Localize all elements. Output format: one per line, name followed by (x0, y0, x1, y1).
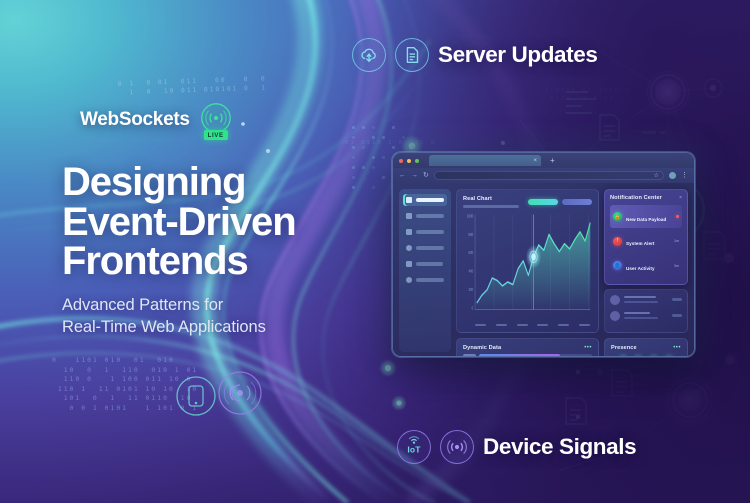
topic-server-updates-label: Server Updates (438, 42, 597, 68)
chart-card-title: Real Chart (463, 196, 519, 202)
svg-text:IoT: IoT (407, 445, 421, 455)
x-tick (496, 324, 507, 326)
sidebar-item-circle[interactable] (403, 242, 447, 254)
broadcast-signal-icon (440, 430, 474, 464)
svg-text:0: 0 (472, 306, 474, 311)
progress-track (479, 354, 592, 357)
document-icon (395, 38, 429, 72)
realtime-area-chart: 1000 800 600 400 200 0 (463, 212, 592, 326)
live-pill-label: LIVE (204, 130, 228, 140)
page-subtitle: Advanced Patterns for Real-Time Web Appl… (62, 295, 296, 339)
websockets-text: WebSockets (80, 109, 190, 131)
avatar (610, 311, 620, 321)
svg-text:200: 200 (468, 288, 473, 293)
chart-live-toggle[interactable] (528, 199, 558, 205)
sidebar-item-square[interactable] (403, 226, 447, 238)
notification-time: 1m (674, 239, 679, 243)
card-menu-icon[interactable]: ••• (584, 345, 592, 351)
lock-icon: 🔒 (613, 212, 622, 221)
topic-device-signals-label: Device Signals (483, 434, 636, 460)
close-icon[interactable]: × (679, 196, 682, 201)
notification-center-title: Notification Center (610, 195, 662, 201)
presence-grid (611, 356, 681, 358)
binary-texture-top: 0 1 0 01 011 00 0 0 1 0 10 011 010101 0 … (118, 75, 267, 98)
close-icon[interactable]: × (533, 158, 537, 164)
dashboard-sidebar (399, 189, 451, 352)
notification-time: 3m (674, 264, 679, 268)
square-icon (406, 229, 412, 235)
title-line-3: Frontends (62, 242, 296, 282)
avatar (610, 295, 620, 305)
browser-tab[interactable]: × (429, 155, 541, 166)
notification-title: New Data Payload (626, 217, 666, 222)
websockets-live-badge: LIVE (199, 103, 233, 137)
x-tick (558, 324, 569, 326)
user-icon: 👤 (613, 261, 622, 270)
row-label (463, 354, 476, 357)
chart-card-header: Real Chart (463, 196, 592, 208)
reload-icon[interactable]: ↻ (423, 172, 429, 179)
address-bar[interactable]: ☆ (434, 171, 664, 180)
presence-dot[interactable] (620, 356, 626, 358)
browser-tab-bar: × + (393, 153, 694, 168)
notification-title: System Alert (626, 241, 655, 246)
sidebar-item-label (416, 230, 444, 234)
list-item[interactable] (610, 311, 682, 321)
feed-line-secondary (624, 317, 658, 319)
dashboard-main: Real Chart (456, 189, 688, 352)
x-tick (579, 324, 590, 326)
binary-texture-right: 1 0011 01 0110 1 0101 1 0 10 (545, 88, 631, 104)
chart-x-ticks (475, 324, 590, 326)
svg-text:600: 600 (468, 251, 473, 256)
sidebar-item-label (416, 214, 444, 218)
x-tick (475, 324, 486, 326)
list-item[interactable] (610, 295, 682, 305)
websockets-label: WebSockets LIVE (80, 103, 233, 137)
status-badge (676, 215, 679, 218)
feed-tag (672, 298, 682, 301)
page-title: Designing Event-Driven Frontends (62, 163, 296, 282)
chart-icon (406, 261, 412, 267)
alert-icon: ! (613, 237, 622, 246)
user-icon (406, 277, 412, 283)
feed-line-primary (624, 296, 656, 299)
dynamic-data-card: Dynamic Data ••• (456, 338, 599, 358)
sidebar-item-label (416, 246, 444, 250)
activity-feed-panel (604, 289, 688, 333)
forward-icon[interactable]: → (411, 172, 418, 179)
presence-dot[interactable] (666, 356, 672, 358)
notification-title: User Activity (626, 266, 655, 271)
sidebar-item-label (416, 198, 444, 202)
back-icon[interactable]: ← (399, 172, 406, 179)
topic-server-updates: Server Updates (352, 38, 597, 72)
hero-banner: 0 1 0 01 011 00 0 0 1 0 10 011 010101 0 … (0, 0, 750, 503)
grid-icon (406, 213, 412, 219)
subtitle-line-1: Advanced Patterns for (62, 295, 296, 317)
notification-center-header: Notification Center × (610, 195, 682, 201)
dashboard-row-bottom: Dynamic Data ••• (456, 338, 688, 358)
browser-window-mockup[interactable]: × + ← → ↻ ☆ ⋮ (392, 152, 695, 357)
binary-texture-lower: 0 1101 010 01 010 10 0 1 110 010 1 01 11… (52, 356, 198, 414)
home-icon (406, 197, 412, 203)
window-maximize-dot[interactable] (415, 159, 419, 163)
x-tick (517, 324, 528, 326)
svg-text:1000: 1000 (467, 214, 473, 219)
iot-icon: IoT (397, 430, 431, 464)
chart-subtitle-placeholder (463, 205, 519, 208)
notification-center-panel: Notification Center × 🔒 New Data Payload (604, 189, 688, 285)
cloud-sync-icon (352, 38, 386, 72)
real-chart-card: Real Chart (456, 189, 599, 333)
window-minimize-dot[interactable] (407, 159, 411, 163)
binary-texture-mid: 01 0110 1 0 011 0 (345, 140, 436, 148)
notification-item[interactable]: ! System Alert 1m (610, 230, 682, 253)
presence-dot[interactable] (635, 356, 641, 358)
title-line-2: Event-Driven (62, 203, 296, 243)
hero-headline: Designing Event-Driven Frontends Advance… (62, 163, 296, 339)
sidebar-item-home[interactable] (403, 194, 447, 206)
sidebar-item-label (416, 278, 444, 282)
sidebar-item-label (416, 262, 443, 266)
dashboard-row-top: Real Chart (456, 189, 688, 333)
chart-range-toggle[interactable] (562, 199, 592, 205)
dashboard-body: Real Chart (393, 183, 694, 357)
x-tick (537, 324, 548, 326)
browser-nav-bar: ← → ↻ ☆ ⋮ (393, 168, 694, 183)
card-menu-icon[interactable]: ••• (673, 345, 681, 351)
window-close-dot[interactable] (399, 159, 403, 163)
bookmark-star-icon[interactable]: ☆ (654, 172, 659, 179)
progress-fill (479, 354, 560, 357)
presence-dot[interactable] (651, 356, 657, 358)
feed-line-primary (624, 312, 650, 315)
notification-item[interactable]: 👤 User Activity 3m (610, 254, 682, 277)
svg-text:800: 800 (468, 232, 473, 237)
subtitle-line-2: Real-Time Web Applications (62, 317, 296, 339)
new-tab-icon[interactable]: + (550, 157, 555, 165)
feed-tag (672, 314, 682, 317)
notifications-column: Notification Center × 🔒 New Data Payload (604, 189, 688, 333)
sidebar-item-user[interactable] (403, 274, 447, 286)
sidebar-item-grid[interactable] (403, 210, 447, 222)
notification-item[interactable]: 🔒 New Data Payload (610, 205, 682, 228)
dynamic-data-title: Dynamic Data (463, 345, 501, 351)
feed-line-secondary (624, 301, 658, 303)
circle-icon (406, 245, 412, 251)
presence-title: Presence (611, 345, 637, 351)
table-row (463, 354, 592, 357)
chart-plot-area: 1000 800 600 400 200 0 (463, 212, 592, 326)
topic-device-signals: IoT Device Signals (397, 430, 636, 464)
sidebar-item-chart[interactable] (403, 258, 447, 270)
avatar[interactable] (669, 172, 676, 179)
title-line-1: Designing (62, 163, 296, 203)
presence-card: Presence ••• (604, 338, 688, 358)
svg-text:400: 400 (468, 269, 473, 274)
browser-menu-icon[interactable]: ⋮ (681, 172, 688, 179)
